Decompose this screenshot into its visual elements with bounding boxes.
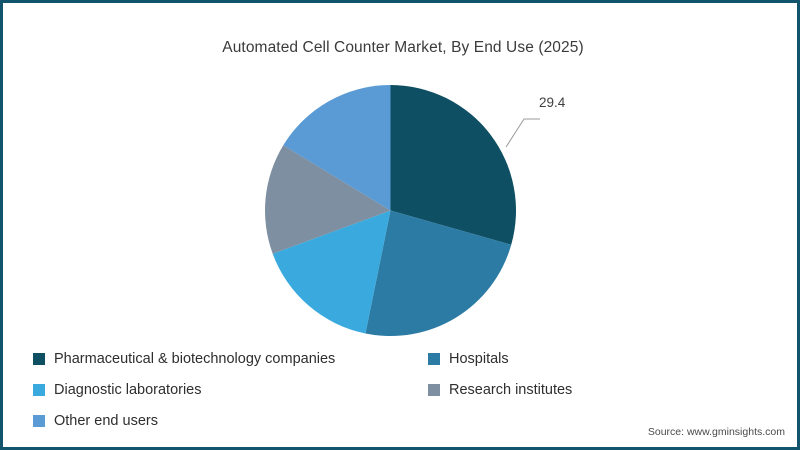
legend-row: Diagnostic laboratoriesResearch institut… — [33, 378, 773, 409]
legend-item-label: Other end users — [54, 413, 158, 429]
legend-item-label: Diagnostic laboratories — [54, 382, 202, 398]
legend-swatch-icon — [428, 384, 440, 396]
legend-item[interactable]: Other end users — [33, 409, 428, 433]
legend-swatch-icon — [33, 415, 45, 427]
pie-slice-group — [265, 85, 516, 336]
data-label-value: 29.4 — [539, 95, 565, 110]
legend-item-label: Hospitals — [449, 351, 509, 367]
chart-figure: Automated Cell Counter Market, By End Us… — [0, 0, 800, 450]
legend-item[interactable]: Research institutes — [428, 378, 748, 402]
legend-item-label: Pharmaceutical & biotechnology companies — [54, 351, 335, 367]
pie-chart — [265, 85, 516, 336]
legend-swatch-icon — [428, 353, 440, 365]
legend-row: Pharmaceutical & biotechnology companies… — [33, 347, 773, 378]
legend-item[interactable]: Diagnostic laboratories — [33, 378, 428, 402]
legend-item-label: Research institutes — [449, 382, 572, 398]
source-attribution: Source: www.gminsights.com — [648, 426, 785, 438]
legend-swatch-icon — [33, 384, 45, 396]
legend-item[interactable]: Hospitals — [428, 347, 748, 371]
legend-item[interactable]: Pharmaceutical & biotechnology companies — [33, 347, 428, 371]
legend-swatch-icon — [33, 353, 45, 365]
page-title: Automated Cell Counter Market, By End Us… — [3, 39, 800, 57]
pie-svg — [265, 85, 516, 336]
